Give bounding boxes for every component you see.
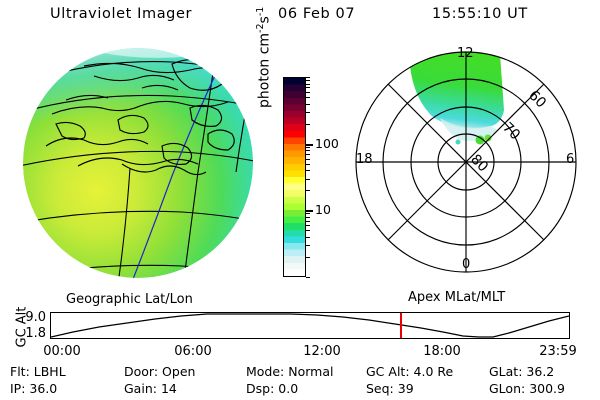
page-title: Ultraviolet Imager bbox=[50, 6, 192, 22]
altitude-curve bbox=[51, 314, 569, 337]
altitude-ytick-max: 9.0 bbox=[0, 310, 46, 325]
status-ip: IP: 36.0 bbox=[10, 381, 57, 396]
status-mode-label: Mode: bbox=[246, 364, 284, 379]
globe-panel: Geographic Lat/Lon bbox=[22, 48, 254, 278]
header: Ultraviolet Imager 06 Feb 07 15:55:10 UT bbox=[0, 6, 600, 28]
status-ip-label: IP: bbox=[10, 381, 25, 396]
status-glon: GLon: 300.9 bbox=[489, 381, 565, 396]
status-seq: Seq: 39 bbox=[366, 381, 414, 396]
mlat-label-80: 80 bbox=[467, 152, 491, 176]
status-glat: GLat: 36.2 bbox=[489, 364, 554, 379]
polar-svg: 60 70 80 bbox=[352, 48, 580, 276]
colorbar-axis-title: photon cm-2s-1 bbox=[255, 0, 273, 108]
status-glon-label: GLon: bbox=[489, 381, 525, 396]
status-door-label: Door: bbox=[124, 364, 158, 379]
status-mode-value: Normal bbox=[288, 364, 333, 379]
status-flt-label: Flt: bbox=[10, 364, 30, 379]
colorbar-ticks bbox=[306, 77, 313, 277]
status-seq-value: 39 bbox=[398, 381, 414, 396]
status-mode: Mode: Normal bbox=[246, 364, 334, 379]
status-dsp: Dsp: 0.0 bbox=[246, 381, 298, 396]
xtick-1: 06:00 bbox=[174, 344, 211, 359]
mlat-label-70: 70 bbox=[499, 120, 523, 144]
cbar-title-sup1: -2 bbox=[255, 23, 266, 32]
colorbar-label-100: 100 bbox=[315, 136, 339, 151]
status-flt-value: LBHL bbox=[34, 364, 66, 379]
status-ip-value: 36.0 bbox=[29, 381, 57, 396]
status-door-value: Open bbox=[162, 364, 195, 379]
xtick-4: 23:59 bbox=[539, 344, 576, 359]
globe-disk bbox=[22, 48, 254, 278]
uvi-display-root: Ultraviolet Imager 06 Feb 07 15:55:10 UT bbox=[0, 0, 600, 400]
mlt-label-6: 6 bbox=[566, 152, 574, 167]
cbar-title-s: s bbox=[257, 16, 273, 23]
status-dsp-label: Dsp: bbox=[246, 381, 274, 396]
xtick-0: 00:00 bbox=[43, 344, 80, 359]
polar-panel: 60 70 80 12 18 6 0 bbox=[352, 48, 580, 276]
current-time-marker bbox=[400, 313, 402, 338]
status-gain-label: Gain: bbox=[124, 381, 157, 396]
status-glat-label: GLat: bbox=[489, 364, 522, 379]
polar-spokes bbox=[356, 52, 576, 272]
globe-airglow bbox=[22, 48, 254, 278]
status-gcalt-label: GC Alt: bbox=[366, 364, 410, 379]
globe-svg bbox=[22, 48, 254, 278]
status-seq-label: Seq: bbox=[366, 381, 394, 396]
altitude-plot-box bbox=[50, 312, 570, 339]
colorbar: 100 10 bbox=[283, 77, 306, 277]
status-gcalt: GC Alt: 4.0 Re bbox=[366, 364, 453, 379]
mlt-label-18: 18 bbox=[356, 152, 373, 167]
status-bar: Flt: LBHL Door: Open Mode: Normal GC Alt… bbox=[0, 364, 600, 398]
auroral-patch bbox=[410, 50, 504, 145]
status-flt: Flt: LBHL bbox=[10, 364, 66, 379]
observation-time: 15:55:10 UT bbox=[432, 6, 528, 22]
status-gain-value: 14 bbox=[161, 381, 177, 396]
altitude-ytick-min: 1.8 bbox=[0, 326, 46, 341]
status-glat-value: 36.2 bbox=[526, 364, 554, 379]
altitude-curve-svg bbox=[51, 313, 569, 338]
observation-date: 06 Feb 07 bbox=[278, 6, 355, 22]
xtick-3: 18:00 bbox=[423, 344, 460, 359]
status-gcalt-value: 4.0 Re bbox=[414, 364, 454, 379]
colorbar-label-10: 10 bbox=[315, 202, 331, 217]
status-gain: Gain: 14 bbox=[124, 381, 177, 396]
status-door: Door: Open bbox=[124, 364, 195, 379]
cbar-title-sup2: -1 bbox=[255, 7, 266, 16]
mlt-label-0: 0 bbox=[462, 257, 470, 272]
colorbar-gradient bbox=[283, 77, 306, 277]
xtick-2: 12:00 bbox=[303, 344, 340, 359]
mlt-label-12: 12 bbox=[457, 46, 474, 61]
cbar-title-main: photon cm bbox=[257, 33, 273, 108]
polar-caption: Apex MLat/MLT bbox=[408, 290, 505, 305]
status-dsp-value: 0.0 bbox=[278, 381, 298, 396]
status-glon-value: 300.9 bbox=[529, 381, 565, 396]
